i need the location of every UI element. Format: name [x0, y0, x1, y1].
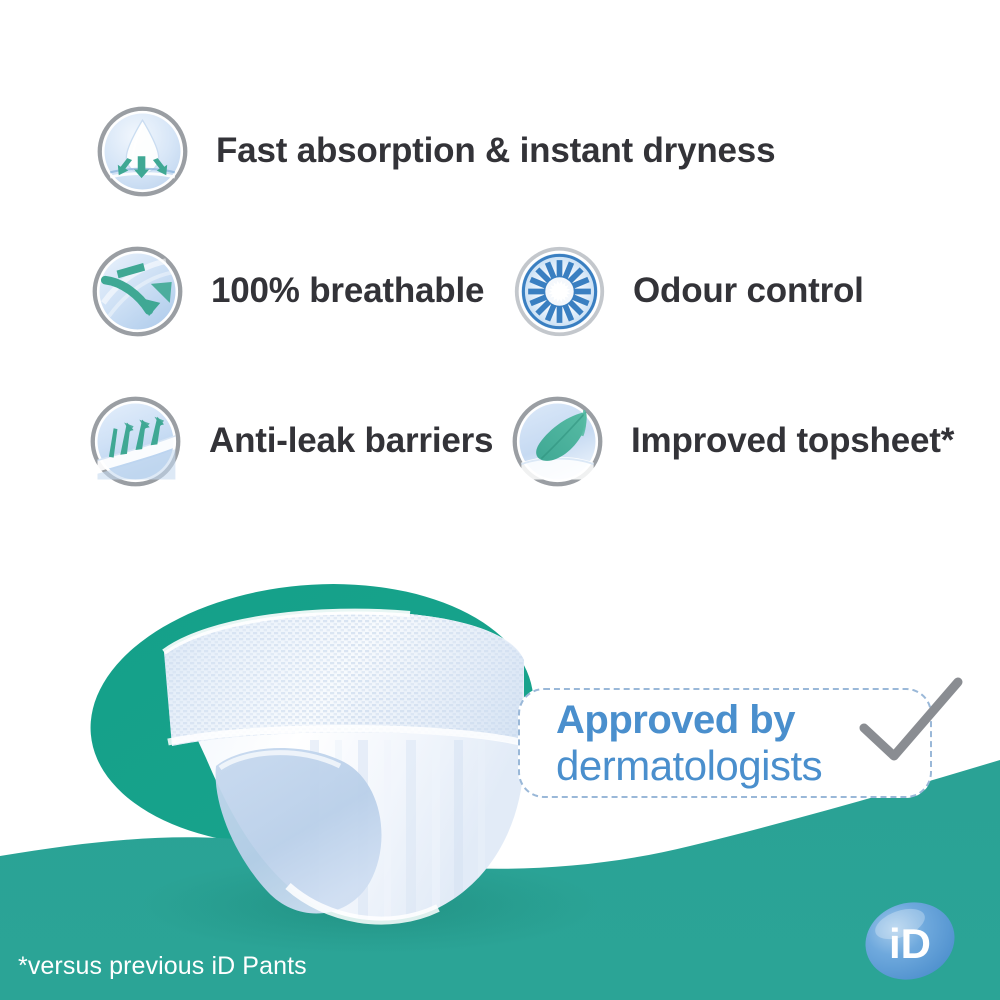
feature-item-odour-control[interactable]: Odour control — [512, 244, 864, 339]
checkmark-icon — [850, 676, 970, 772]
radial-burst-icon — [512, 244, 607, 339]
feature-label: Anti-leak barriers — [209, 423, 493, 460]
feature-item-anti-leak[interactable]: Anti-leak barriers — [88, 394, 493, 489]
badge-line-approved-by: Approved by — [556, 698, 896, 743]
feature-list: Fast absorption & instant dryness — [0, 0, 1000, 540]
id-logo[interactable]: iD — [862, 898, 958, 984]
water-droplet-absorption-icon — [95, 104, 190, 199]
approved-by-dermatologists-badge[interactable]: Approved by dermatologists — [518, 688, 932, 798]
upward-barrier-arrows-icon — [88, 394, 183, 489]
leg-opening — [216, 748, 382, 913]
feature-label: Odour control — [633, 273, 864, 310]
feature-label: Improved topsheet* — [631, 423, 954, 460]
feature-label: Fast absorption & instant dryness — [216, 133, 775, 170]
leaf-icon — [510, 394, 605, 489]
promo-image-canvas: Fast absorption & instant dryness — [0, 0, 1000, 1000]
footnote-text: *versus previous iD Pants — [18, 952, 307, 981]
logo-text: iD — [889, 920, 931, 967]
feature-label: 100% breathable — [211, 273, 484, 310]
badge-line-dermatologists: dermatologists — [556, 743, 896, 788]
feature-item-fast-absorption[interactable]: Fast absorption & instant dryness — [95, 104, 775, 199]
badge-text-group: Approved by dermatologists — [556, 698, 896, 788]
feature-item-breathable[interactable]: 100% breathable — [90, 244, 484, 339]
airflow-arrows-icon — [90, 244, 185, 339]
feature-item-topsheet[interactable]: Improved topsheet* — [510, 394, 954, 489]
